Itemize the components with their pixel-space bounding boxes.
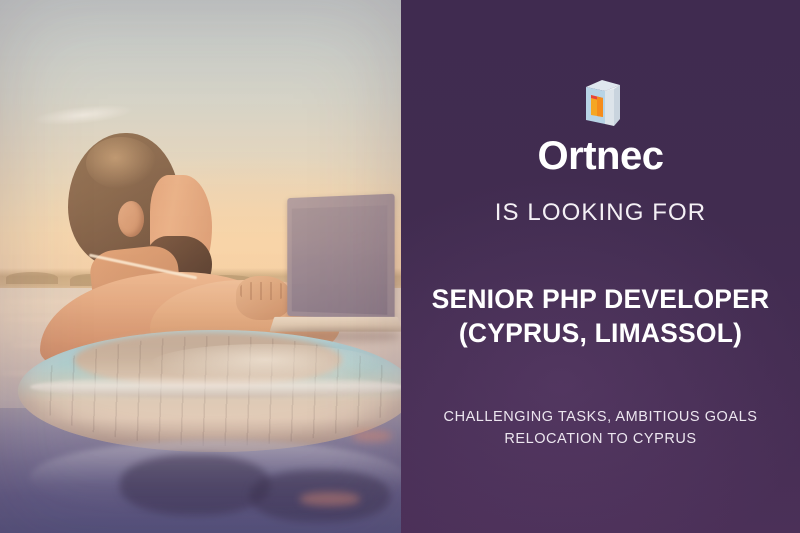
headline: IS LOOKING FOR [401,199,800,227]
position-title: SENIOR PHP DEVELOPER [401,283,800,317]
hero-photo [0,0,401,533]
job-ad-poster: Ortnec IS LOOKING FOR SENIOR PHP DEVELOP… [0,0,800,533]
swim-ring-highlight [150,344,380,384]
position-location: (CYPRUS, LIMASSOL) [401,317,800,351]
shore-bump [6,272,58,284]
brand-lockup: Ortnec [401,76,800,176]
water-warm-reflection [352,430,392,442]
brand-name: Ortnec [401,136,800,176]
tagline-line-1: CHALLENGING TASKS, AMBITIOUS GOALS [401,406,800,428]
tagline-line-2: RELOCATION TO CYPRUS [401,428,800,450]
content-panel: Ortnec IS LOOKING FOR SENIOR PHP DEVELOP… [401,0,800,533]
water-warm-reflection [300,492,360,506]
laptop-screen [292,205,388,315]
man-fingers [240,282,286,300]
position-block: SENIOR PHP DEVELOPER (CYPRUS, LIMASSOL) [401,283,800,351]
open-book-box-logo-icon [575,76,627,130]
hair-highlight [86,137,156,189]
water-dark-reflection [120,455,270,515]
man-ear [118,201,144,237]
tagline: CHALLENGING TASKS, AMBITIOUS GOALS RELOC… [401,406,800,450]
